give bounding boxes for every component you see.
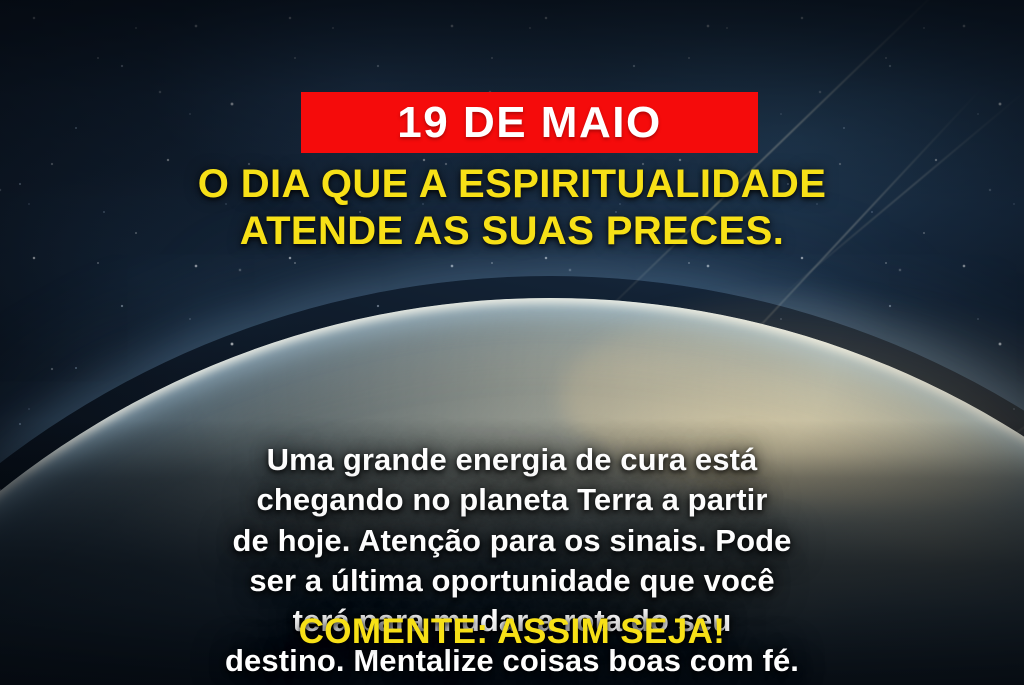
poster-content: 19 DE MAIO O DIA QUE A ESPIRITUALIDADE A… <box>0 0 1024 685</box>
date-banner: 19 DE MAIO <box>301 92 758 153</box>
headline-line-2: ATENDE AS SUAS PRECES. <box>62 208 962 255</box>
poster-canvas: 19 DE MAIO O DIA QUE A ESPIRITUALIDADE A… <box>0 0 1024 685</box>
call-to-action-text: COMENTE: ASSIM SEJA! <box>299 612 726 652</box>
date-banner-text: 19 DE MAIO <box>397 101 661 145</box>
body-line-3: de hoje. Atenção para os sinais. Pode <box>72 521 952 561</box>
body-line-1: Uma grande energia de cura está <box>72 440 952 480</box>
headline-line-1: O DIA QUE A ESPIRITUALIDADE <box>62 161 962 208</box>
body-line-2: chegando no planeta Terra a partir <box>72 480 952 520</box>
page-title: O DIA QUE A ESPIRITUALIDADE ATENDE AS SU… <box>62 161 962 255</box>
body-line-4: ser a última oportunidade que você <box>72 561 952 601</box>
